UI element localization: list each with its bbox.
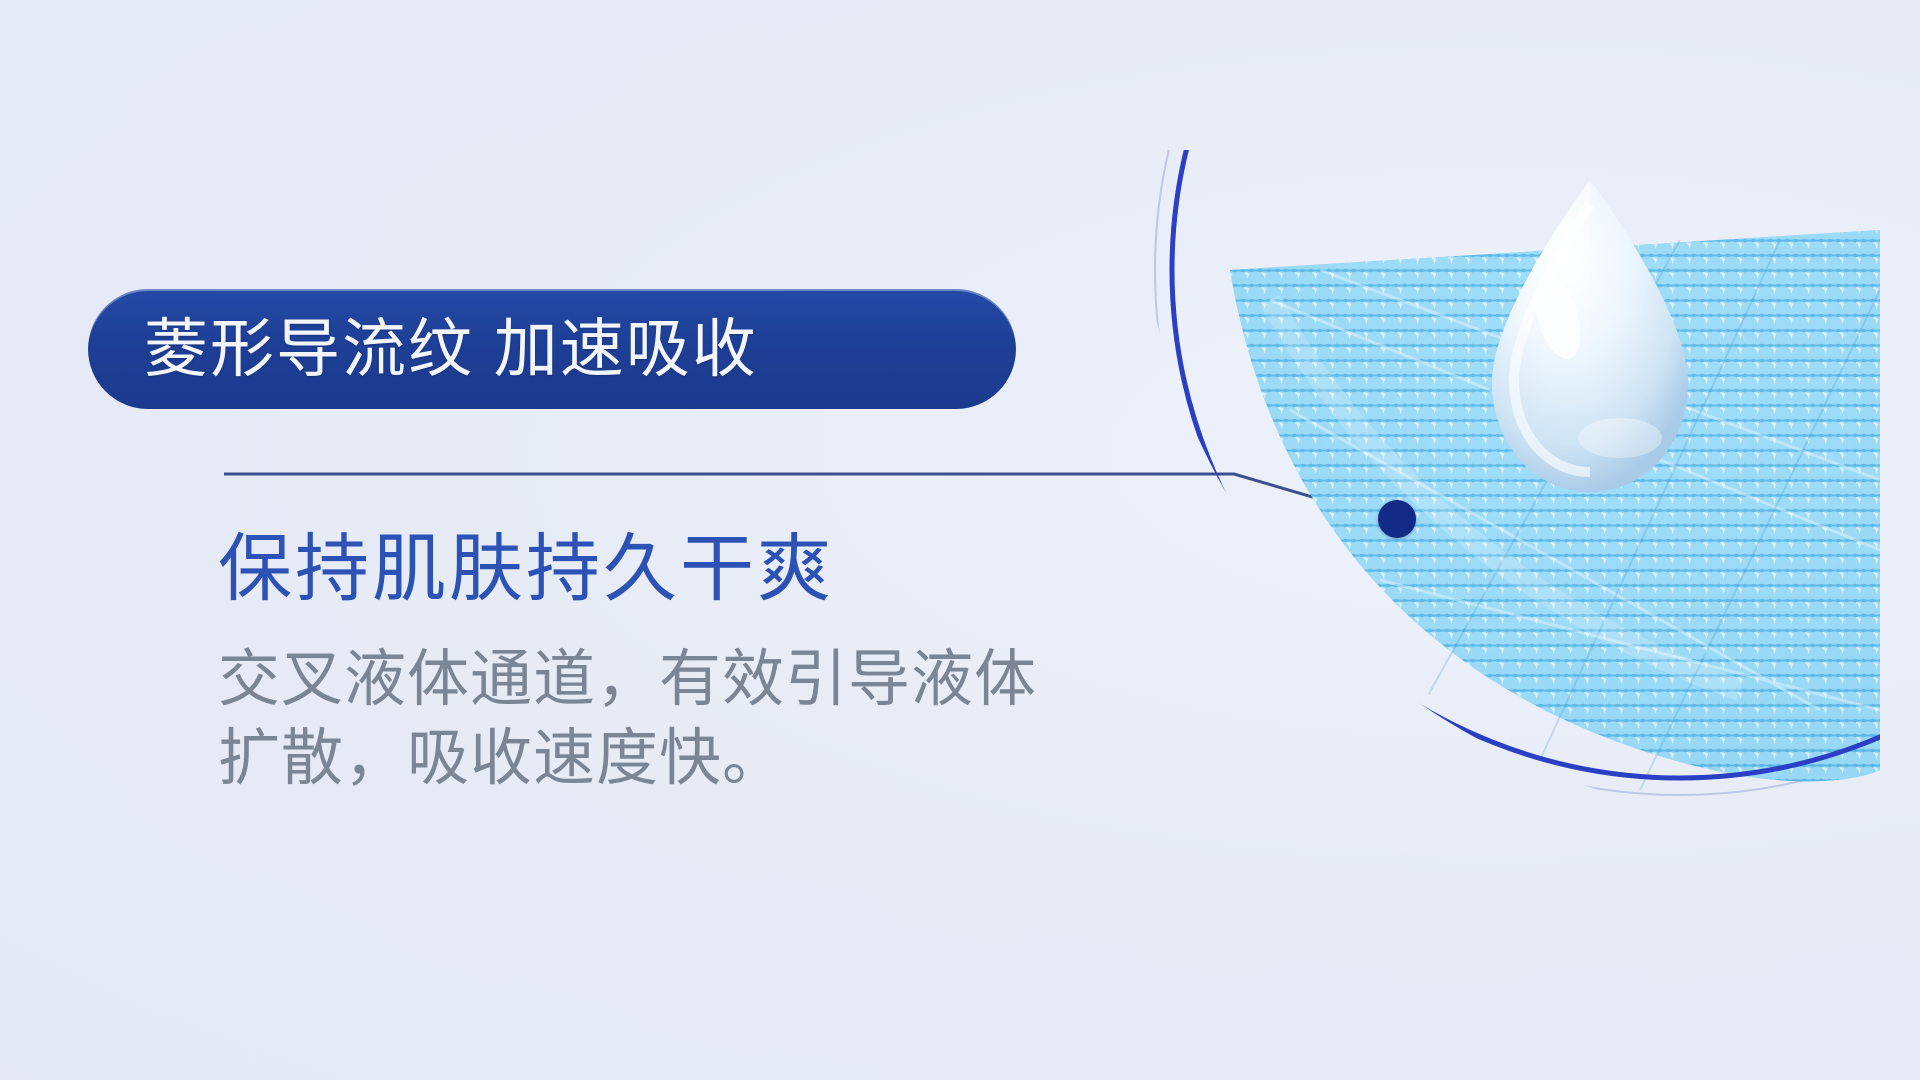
feature-badge-label: 菱形导流纹 加速吸收 (144, 317, 758, 381)
product-illustration (1120, 150, 1880, 850)
headline: 保持肌肤持久干爽 (218, 530, 834, 608)
callout-hotspot-dot[interactable] (1378, 500, 1416, 538)
body-copy: 交叉液体通道，有效引导液体 扩散，吸收速度快。 (218, 640, 1037, 799)
promo-banner: 菱形导流纹 加速吸收 保持肌肤持久干爽 交叉液体通道，有效引导液体 扩散，吸收速… (0, 0, 1920, 1080)
body-copy-line-2: 扩散，吸收速度快。 (218, 719, 1037, 798)
water-droplet (1492, 180, 1688, 492)
body-copy-line-1: 交叉液体通道，有效引导液体 (218, 640, 1037, 719)
content-column: 菱形导流纹 加速吸收 保持肌肤持久干爽 交叉液体通道，有效引导液体 扩散，吸收速… (0, 0, 1160, 1080)
feature-badge: 菱形导流纹 加速吸收 (88, 289, 1016, 409)
